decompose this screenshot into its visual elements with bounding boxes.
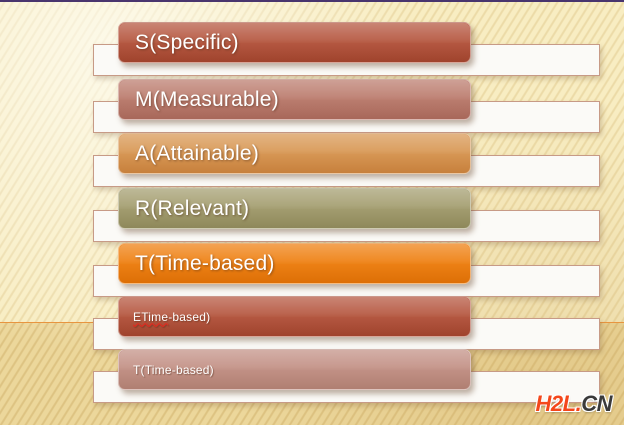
smart-bar[interactable]: R(Relevant) <box>118 188 471 229</box>
smart-bar-label: M(Measurable) <box>119 88 279 112</box>
smart-bar[interactable]: A(Attainable) <box>118 133 471 174</box>
smart-bar[interactable]: ETime-based) <box>118 296 471 337</box>
misspelled-word: ETime <box>133 310 168 324</box>
smart-bar-label: T(Time-based) <box>119 363 214 377</box>
smart-row: S(Specific) <box>0 22 624 78</box>
smart-row: T(Time-based) <box>0 243 624 299</box>
smart-row: M(Measurable) <box>0 79 624 135</box>
smart-row: T(Time-based) <box>0 349 624 405</box>
smart-bar-label-rest: -based) <box>168 310 210 324</box>
smart-bar-label: ETime-based) <box>119 310 210 324</box>
smart-bar[interactable]: M(Measurable) <box>118 79 471 120</box>
logo-part-a: H2L. <box>536 391 582 416</box>
slide-canvas: S(Specific)M(Measurable)A(Attainable)R(R… <box>0 0 624 425</box>
smart-row: ETime-based) <box>0 296 624 352</box>
smart-bar-label: S(Specific) <box>119 31 239 55</box>
smart-bar-label: R(Relevant) <box>119 197 249 221</box>
smart-bar-label: T(Time-based) <box>119 252 275 276</box>
watermark-logo: H2L.CN <box>536 391 612 417</box>
smart-bar[interactable]: T(Time-based) <box>118 349 471 390</box>
smart-bar-label: A(Attainable) <box>119 142 259 166</box>
smart-rows-list: S(Specific)M(Measurable)A(Attainable)R(R… <box>0 0 624 425</box>
smart-row: A(Attainable) <box>0 133 624 189</box>
logo-part-b: CN <box>581 391 612 416</box>
smart-bar[interactable]: S(Specific) <box>118 22 471 63</box>
smart-bar[interactable]: T(Time-based) <box>118 243 471 284</box>
smart-row: R(Relevant) <box>0 188 624 244</box>
